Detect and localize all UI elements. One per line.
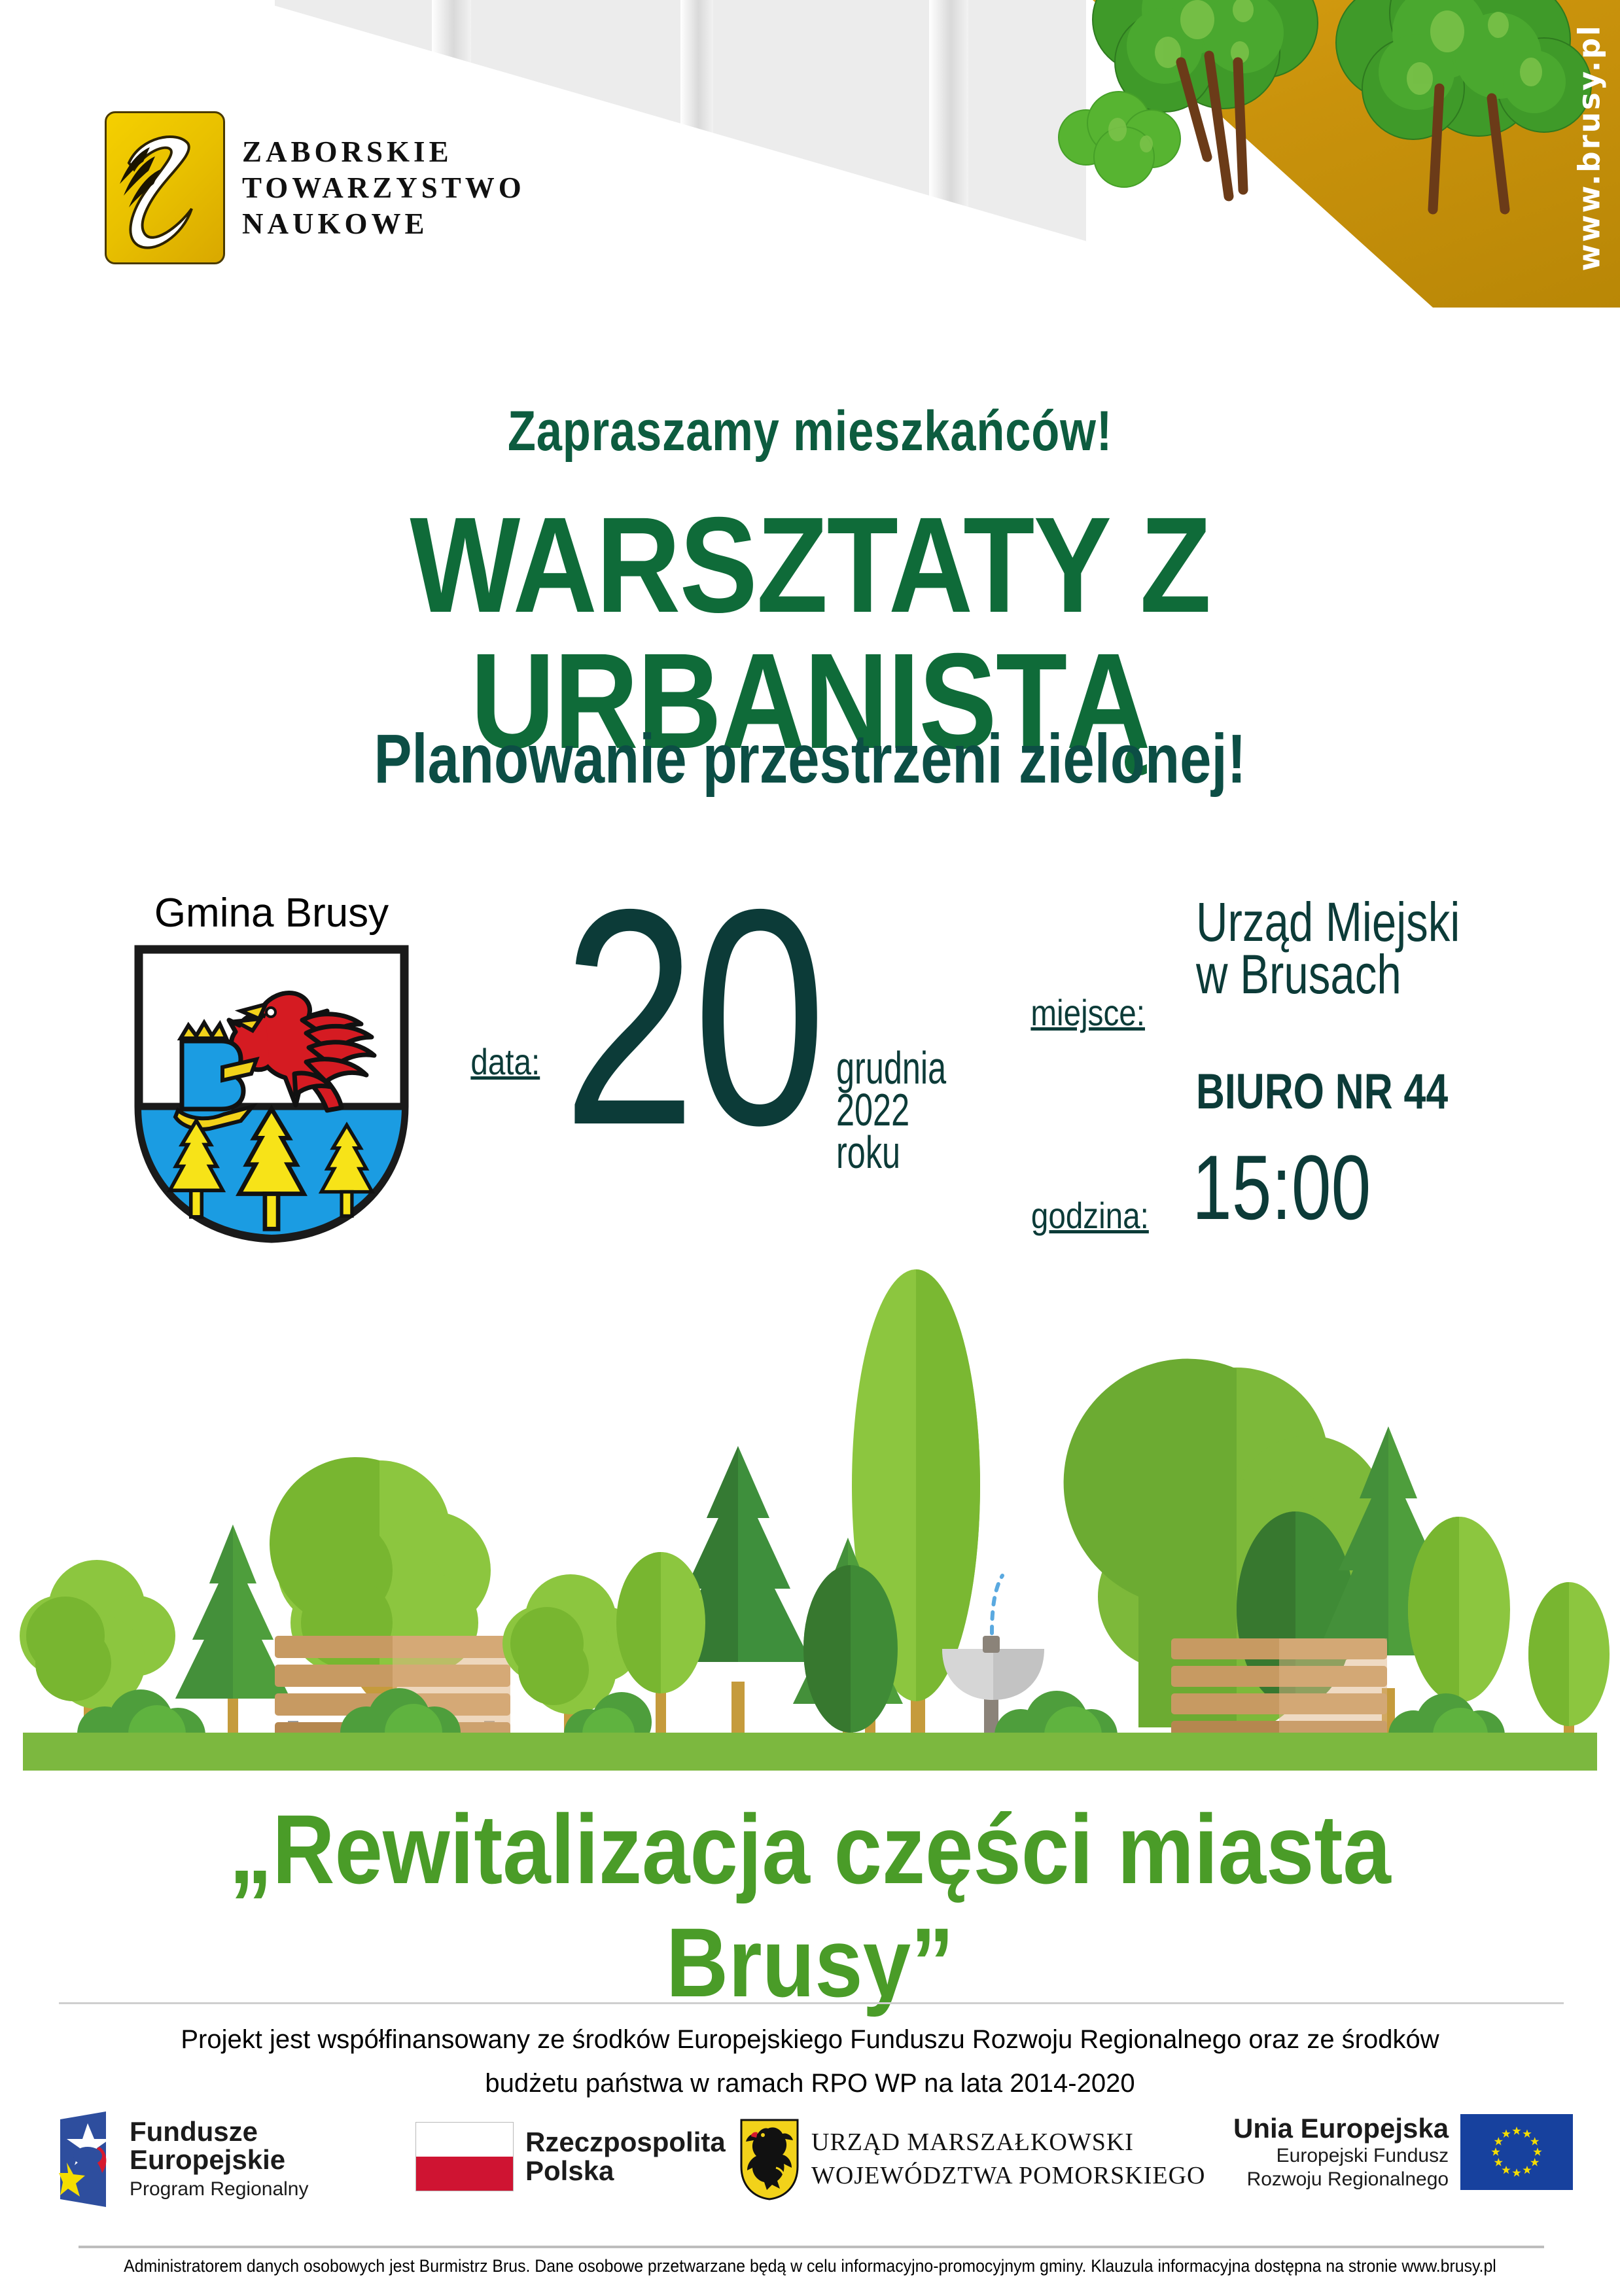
ztn-logo-mark [105, 111, 225, 264]
fe-title-1: Fundusze [130, 2118, 308, 2146]
room-number: BIURO NR 44 [1196, 1063, 1448, 1120]
flag-white-band [416, 2123, 513, 2157]
footer-logos: Fundusze Europejskie Program Regionalny … [0, 2104, 1620, 2225]
event-day: 20 [563, 864, 823, 1171]
pomorskie-crest-icon [739, 2118, 800, 2200]
fe-subtitle: Program Regionalny [130, 2178, 308, 2200]
fundusze-europejskie-text: Fundusze Europejskie Program Regionalny [130, 2118, 308, 2200]
corner-trees-illustration [1047, 0, 1620, 255]
footer-divider-top [59, 2002, 1564, 2004]
event-year: 2022 [836, 1089, 946, 1131]
um-title-2: WOJEWÓDZTWA POMORSKIEGO [811, 2159, 1205, 2193]
place-line-1: Urząd Miejski [1196, 896, 1460, 949]
poland-flag-icon [415, 2122, 514, 2191]
event-month: grudnia [836, 1047, 946, 1089]
pomorskie-crest-svg [739, 2118, 800, 2200]
event-time: 15:00 [1192, 1142, 1371, 1233]
crest-label: Gmina Brusy [118, 890, 425, 936]
ztn-line-2: TOWARZYSTWO [242, 173, 525, 203]
logo-rzeczpospolita-polska: Rzeczpospolita Polska [415, 2122, 726, 2191]
ztn-line-1: ZABORSKIE [242, 137, 525, 167]
time-label: godzina: [1031, 1194, 1149, 1237]
event-details-row: Gmina Brusy [0, 890, 1620, 1315]
tree-oval-darkleft [803, 1565, 898, 1748]
funding-text-line-1: Projekt jest współfinansowany ze środków… [0, 2025, 1620, 2055]
rp-title-2: Polska [525, 2157, 726, 2185]
ztn-line-3: NAUKOWE [242, 209, 525, 239]
fundusze-europejskie-icon [59, 2110, 118, 2208]
ztn-logo[interactable]: ZABORSKIE TOWARZYSTWO NAUKOWE [105, 111, 525, 264]
website-url-strip[interactable]: www.brusy.pl [1564, 0, 1615, 294]
website-url: www.brusy.pl [1572, 24, 1607, 271]
event-date-stack: grudnia 2022 roku [836, 1047, 946, 1173]
invite-heading: Zapraszamy mieszkańców! [146, 399, 1474, 464]
place-label: miejsce: [1030, 991, 1145, 1034]
fe-title-2: Europejskie [130, 2146, 308, 2174]
tree-oval-right-b [1528, 1582, 1610, 1748]
rzeczpospolita-text: Rzeczpospolita Polska [525, 2128, 726, 2185]
ue-title-2: Europejski Fundusz [1233, 2144, 1449, 2168]
page-subtitle: Planowanie przestrzeni zielonej! [146, 720, 1474, 799]
logo-fundusze-europejskie: Fundusze Europejskie Program Regionalny [59, 2110, 308, 2208]
urzad-marszalkowski-text: URZĄD MARSZAŁKOWSKI WOJEWÓDZTWA POMORSKI… [811, 2126, 1205, 2193]
project-title-banner: „Rewitalizacja części miasta Brusy” [97, 1793, 1523, 2019]
crest-svg [131, 943, 412, 1244]
privacy-notice: Administratorem danych osobowych jest Bu… [65, 2256, 1555, 2276]
eu-flag-icon [1460, 2114, 1573, 2190]
ue-title-1: Unia Europejska [1233, 2113, 1449, 2144]
fe-mark-svg [59, 2110, 118, 2208]
place-name: Urząd Miejski w Brusach [1196, 896, 1460, 1001]
unia-europejska-text: Unia Europejska Europejski Fundusz Rozwo… [1233, 2113, 1449, 2191]
gmina-brusy-crest-icon [131, 943, 412, 1244]
event-year-suffix: roku [836, 1131, 946, 1173]
flag-red-band [416, 2157, 513, 2191]
corner-trees-svg [1047, 0, 1620, 255]
rp-title-1: Rzeczpospolita [525, 2128, 726, 2157]
poster-root: www.brusy.pl ZABORSKIE TOWARZYSTWO NAUKO… [0, 0, 1620, 2296]
event-date-block: data: 20 grudnia 2022 roku [465, 896, 923, 1263]
date-label: data: [470, 1040, 540, 1083]
eu-flag-svg [1460, 2114, 1573, 2190]
footer-divider-bottom [79, 2246, 1544, 2248]
funding-text-line-2: budżetu państwa w ramach RPO WP na lata … [0, 2069, 1620, 2098]
ue-subtitle: Rozwoju Regionalnego [1233, 2168, 1449, 2191]
gmina-brusy-block: Gmina Brusy [118, 890, 425, 1244]
grass-strip [23, 1733, 1597, 1771]
um-title-1: URZĄD MARSZAŁKOWSKI [811, 2126, 1205, 2159]
place-line-2: w Brusach [1196, 949, 1460, 1001]
logo-unia-europejska: Unia Europejska Europejski Fundusz Rozwo… [1233, 2113, 1573, 2191]
ztn-logo-text: ZABORSKIE TOWARZYSTWO NAUKOWE [242, 137, 525, 239]
logo-urzad-marszalkowski: URZĄD MARSZAŁKOWSKI WOJEWÓDZTWA POMORSKI… [739, 2118, 1205, 2200]
event-place-block: miejsce: Urząd Miejski w Brusach BIURO N… [1021, 896, 1544, 1276]
z-monogram-icon [114, 124, 213, 252]
